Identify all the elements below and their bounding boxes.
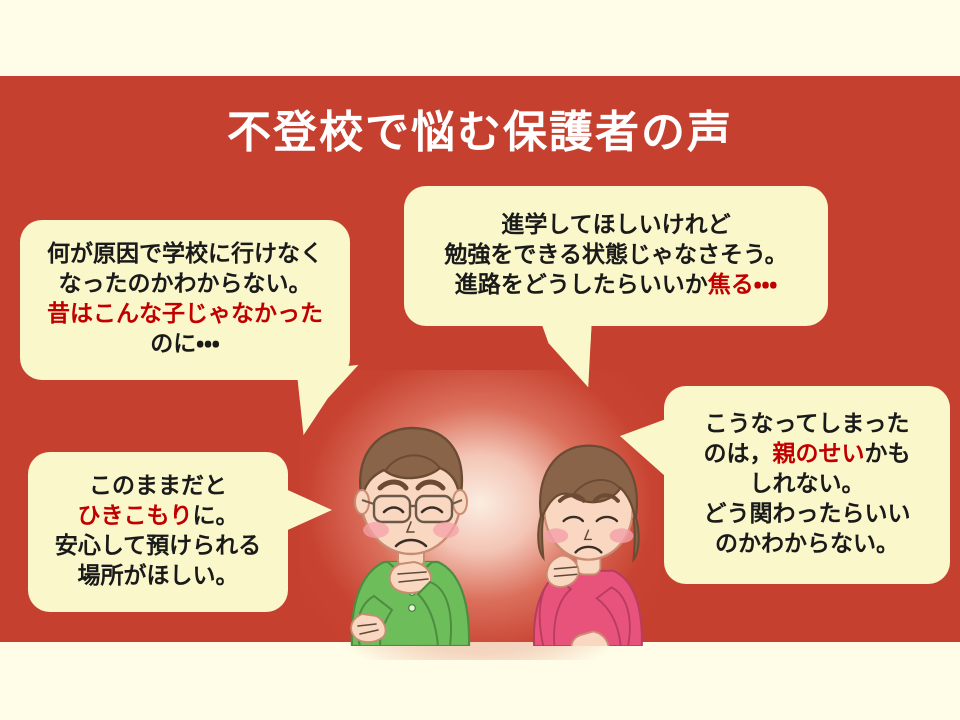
bubble-text-run: このままだと	[89, 473, 227, 499]
bubble-text-run: こうなってしまった	[705, 411, 910, 437]
bubble-line: 何が原因で学校に行けなく	[30, 240, 340, 270]
bubble-text-run: に。	[193, 503, 239, 529]
bubble-line: このままだと	[36, 472, 280, 502]
highlighted-phrase: ひきこもり	[78, 503, 193, 529]
bubble-text-run: 安心して預けられる	[55, 533, 261, 559]
bubble-text-run: 勉強をできる状態じゃなさそう。	[444, 242, 787, 268]
bubble-text-run: のは，	[704, 441, 773, 467]
speech-bubble-origin[interactable]: 何が原因で学校に行けなくなったのかわからない。昔はこんな子じゃなかったのに・・・	[20, 220, 350, 380]
bubble-line: 進路をどうしたらいいか焦る・・・	[412, 271, 820, 301]
bubble-text-run: 進路をどうしたらいいか	[455, 272, 708, 298]
speech-bubble-hikikomori[interactable]: このままだとひきこもりに。安心して預けられる場所がほしい。	[28, 452, 288, 612]
bubble-text-run: かも	[865, 441, 911, 467]
bubble-text-run: しれない。	[750, 471, 865, 497]
bubble-text-run: 場所がほしい。	[78, 563, 239, 589]
bubble-line: こうなってしまった	[672, 410, 942, 440]
bubble-line: なったのかわからない。	[30, 270, 340, 300]
bubble-text-run: なったのかわからない。	[59, 271, 312, 297]
worried-parents-illustration: .ln2 { fill:none; stroke:#5E4A3A; stroke…	[300, 396, 670, 646]
bubble-line: 場所がほしい。	[36, 562, 280, 592]
speech-bubble-future[interactable]: 進学してほしいけれど勉強をできる状態じゃなさそう。進路をどうしたらいいか焦る・・…	[404, 186, 828, 326]
bubble-line: 進学してほしいけれど	[412, 211, 820, 241]
speech-bubble-blame[interactable]: こうなってしまったのは，親のせいかもしれない。どう関わったらいいのかわからない。	[664, 386, 950, 584]
highlighted-phrase: 焦る・・・	[708, 272, 777, 298]
bubble-line: のに・・・	[30, 330, 340, 360]
bubble-text-run: どう関わったらいい	[704, 501, 911, 527]
highlighted-phrase: 昔はこんな子じゃなかった	[47, 301, 323, 327]
bubble-line: のかわからない。	[672, 530, 942, 560]
bubble-text-run: のかわからない。	[715, 531, 899, 557]
bubble-text-run: 何が原因で学校に行けなく	[47, 241, 323, 267]
father-figure	[351, 428, 469, 646]
bubble-line: しれない。	[672, 470, 942, 500]
bubble-text-run: 進学してほしいけれど	[501, 212, 730, 238]
bubble-text-run: のに・・・	[150, 331, 219, 357]
bubble-line: 勉強をできる状態じゃなさそう。	[412, 241, 820, 271]
bubble-line: 昔はこんな子じゃなかった	[30, 300, 340, 330]
bubble-line: のは，親のせいかも	[672, 440, 942, 470]
page-title: 不登校で悩む保護者の声	[0, 96, 960, 160]
mother-figure	[534, 446, 642, 646]
slide-canvas: 不登校で悩む保護者の声 .ln2 { fill:none; stroke:#5E…	[0, 0, 960, 720]
bubble-line: どう関わったらいい	[672, 500, 942, 530]
bubble-line: ひきこもりに。	[36, 502, 280, 532]
highlighted-phrase: 親のせい	[773, 441, 865, 467]
bubble-line: 安心して預けられる	[36, 532, 280, 562]
